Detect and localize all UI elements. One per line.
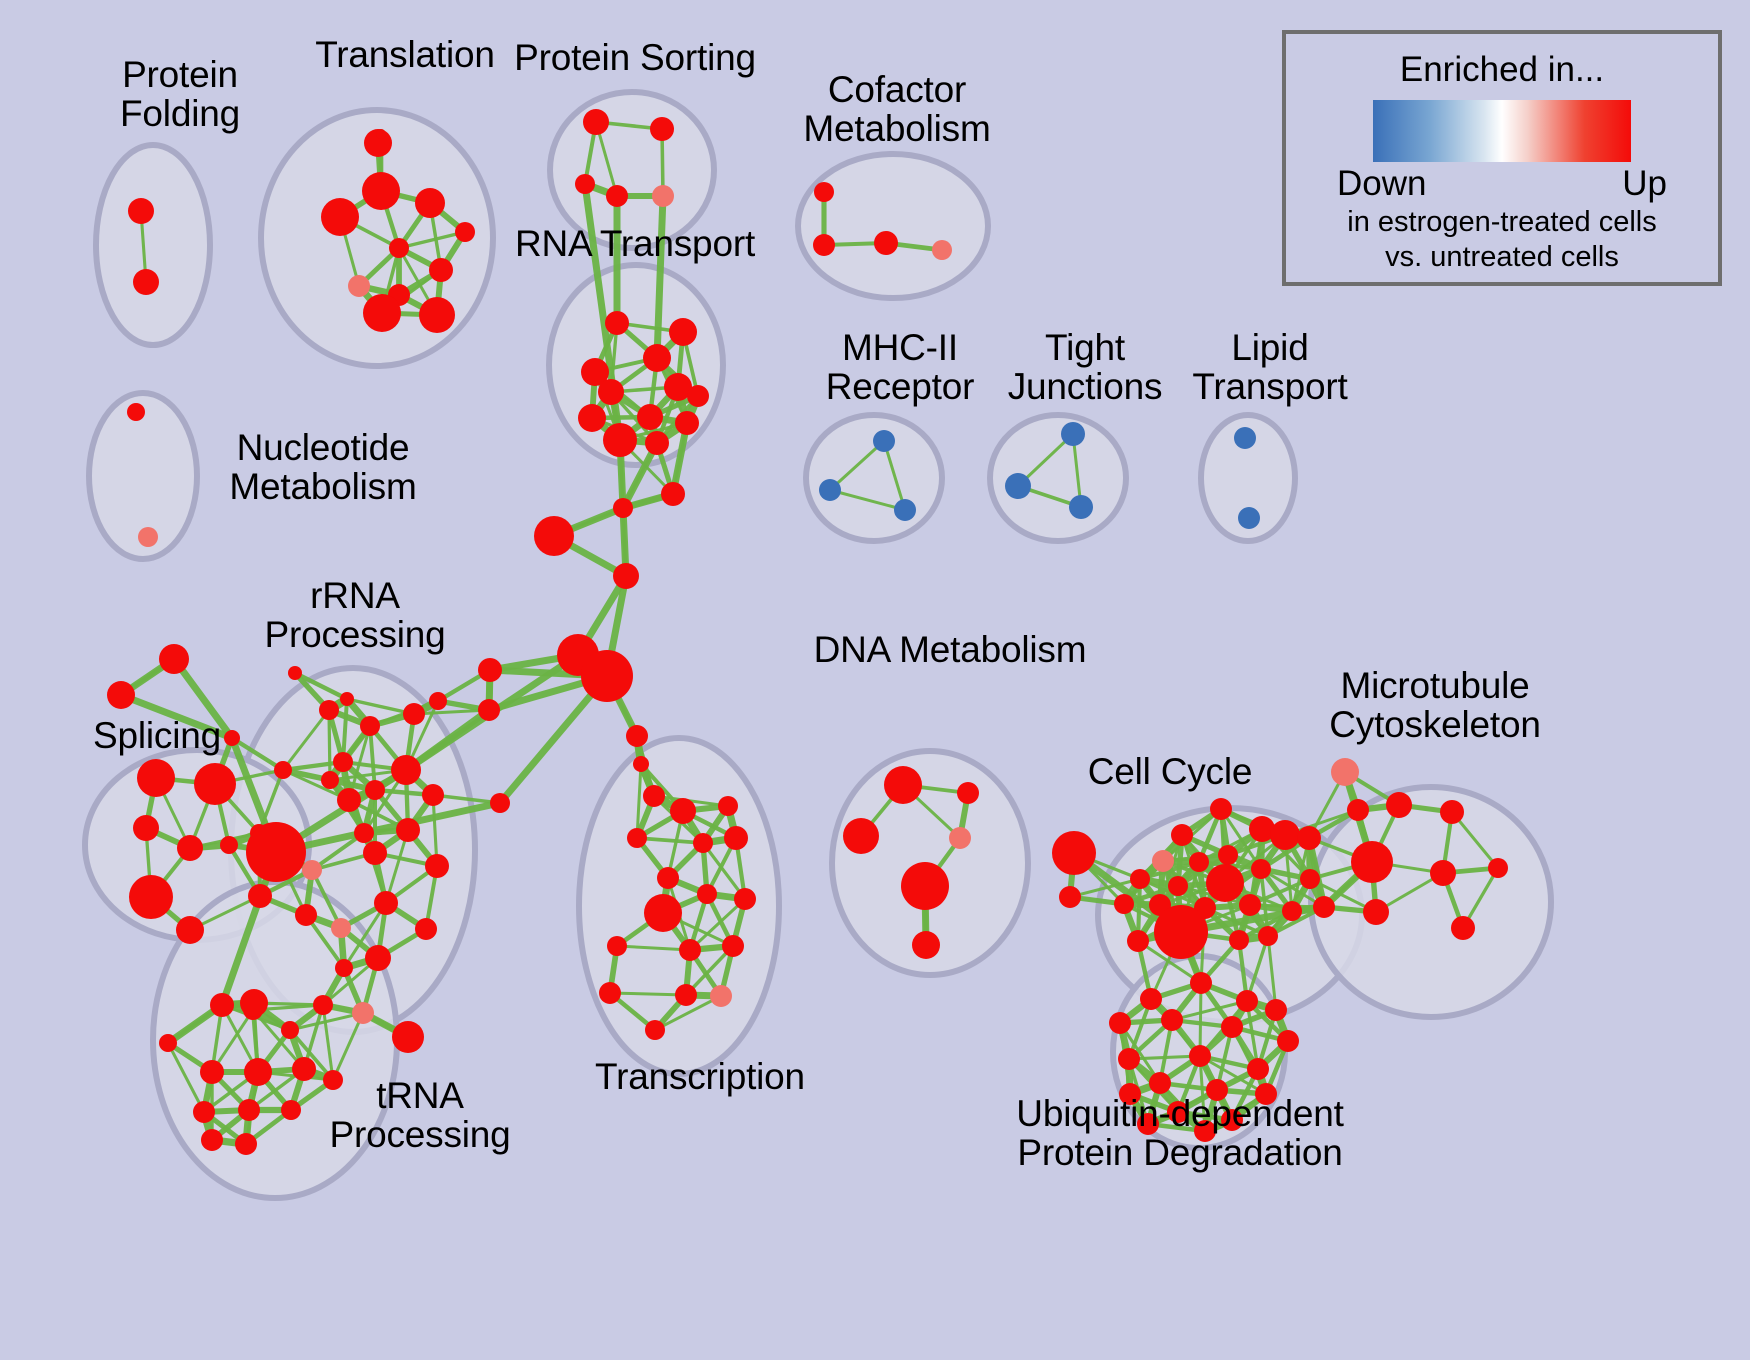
network-node[interactable] [578,404,606,432]
network-node[interactable] [1351,841,1393,883]
network-node[interactable] [627,828,647,848]
network-node[interactable] [912,931,940,959]
network-node[interactable] [374,891,398,915]
network-node[interactable] [295,904,317,926]
network-node[interactable] [606,185,628,207]
network-node[interactable] [288,666,302,680]
network-node[interactable] [194,763,236,805]
network-node[interactable] [1331,758,1359,786]
network-node[interactable] [1239,894,1261,916]
network-node[interactable] [583,109,609,135]
network-node[interactable] [478,658,502,682]
cluster-label-rrna-processing: rRNA Processing [245,576,465,654]
network-node[interactable] [661,482,685,506]
network-node[interactable] [1297,826,1321,850]
network-node[interactable] [884,766,922,804]
network-node[interactable] [302,860,322,880]
network-node[interactable] [687,385,709,407]
network-edge [610,993,686,995]
network-node[interactable] [1130,869,1150,889]
network-node[interactable] [1247,1058,1269,1080]
network-node[interactable] [335,959,353,977]
network-node[interactable] [210,993,234,1017]
network-node[interactable] [1277,1030,1299,1052]
network-node[interactable] [657,867,679,889]
network-node[interactable] [137,759,175,797]
network-node[interactable] [392,1021,424,1053]
network-node[interactable] [718,796,738,816]
network-node[interactable] [670,798,696,824]
network-node[interactable] [1052,831,1096,875]
network-node[interactable] [607,936,627,956]
network-node[interactable] [1190,972,1212,994]
network-node[interactable] [248,884,272,908]
network-node[interactable] [1114,894,1134,914]
network-node[interactable] [1171,824,1193,846]
network-node[interactable] [391,755,421,785]
network-node[interactable] [363,841,387,865]
network-node[interactable] [1059,886,1081,908]
network-node[interactable] [679,939,701,961]
cluster-label-microtubule-cytoskeleton: Microtubule Cytoskeleton [1290,666,1580,744]
network-node[interactable] [949,827,971,849]
cluster-label-dna-metabolism: DNA Metabolism [800,630,1100,669]
legend-title: Enriched in... [1286,50,1718,90]
cluster-label-protein-folding: Protein Folding [80,55,280,133]
network-node[interactable] [675,984,697,1006]
network-node[interactable] [722,935,744,957]
network-node[interactable] [376,129,386,139]
network-node[interactable] [1005,473,1031,499]
cluster-label-trna-processing: tRNA Processing [310,1076,530,1154]
network-node[interactable] [613,563,639,589]
network-node[interactable] [1069,495,1093,519]
network-figure: Protein FoldingTranslationProtein Sortin… [0,0,1750,1360]
network-node[interactable] [894,499,916,521]
network-node[interactable] [1218,845,1238,865]
network-node[interactable] [603,423,637,457]
network-node[interactable] [415,918,437,940]
network-node[interactable] [246,822,306,882]
cluster-hull-microtubule-cytoskeleton [1311,787,1551,1017]
network-node[interactable] [1440,800,1464,824]
network-node[interactable] [138,527,158,547]
network-node[interactable] [425,854,449,878]
network-node[interactable] [365,945,391,971]
network-node[interactable] [957,782,979,804]
network-node[interactable] [340,692,354,706]
network-node[interactable] [650,117,674,141]
network-node[interactable] [1189,1045,1211,1067]
network-node[interactable] [478,699,500,721]
network-node[interactable] [415,188,445,218]
network-node[interactable] [1168,876,1188,896]
network-node[interactable] [274,761,292,779]
network-node[interactable] [389,238,409,258]
legend-up-label: Up [1622,164,1667,204]
network-node[interactable] [581,650,633,702]
network-node[interactable] [177,835,203,861]
network-node[interactable] [1238,507,1260,529]
network-node[interactable] [1488,858,1508,878]
network-node[interactable] [422,784,444,806]
network-node[interactable] [1221,1016,1243,1038]
network-node[interactable] [128,198,154,224]
network-node[interactable] [633,756,649,772]
network-node[interactable] [645,1020,665,1040]
cluster-label-ubiquitin-protein-degradation: Ubiquitin-dependent Protein Degradation [990,1094,1370,1172]
network-node[interactable] [1258,926,1278,946]
network-node[interactable] [159,1034,177,1052]
network-node[interactable] [874,231,898,255]
network-node[interactable] [873,430,895,452]
cluster-label-nucleotide-metabolism: Nucleotide Metabolism [198,428,448,506]
network-node[interactable] [813,234,835,256]
network-node[interactable] [159,644,189,674]
network-node[interactable] [1140,988,1162,1010]
network-node[interactable] [575,174,595,194]
network-node[interactable] [693,833,713,853]
network-node[interactable] [697,884,717,904]
network-node[interactable] [1127,930,1149,952]
cluster-label-splicing: Splicing [62,716,252,755]
network-node[interactable] [220,836,238,854]
cluster-label-cell-cycle: Cell Cycle [1060,752,1280,791]
network-node[interactable] [1229,930,1249,950]
cluster-label-translation: Translation [280,35,530,74]
network-node[interactable] [605,311,629,335]
network-node[interactable] [319,700,339,720]
cluster-hull-mhc-ii-receptor [806,415,942,541]
network-node[interactable] [321,198,359,236]
network-node[interactable] [724,826,748,850]
network-node[interactable] [626,725,648,747]
network-node[interactable] [1152,850,1174,872]
network-node[interactable] [354,823,374,843]
network-node[interactable] [455,222,475,242]
network-node[interactable] [403,703,425,725]
network-node[interactable] [613,498,633,518]
network-node[interactable] [429,692,447,710]
network-node[interactable] [244,1058,272,1086]
network-node[interactable] [1363,899,1389,925]
network-node[interactable] [129,875,173,919]
network-node[interactable] [200,1060,224,1084]
network-edge [329,710,330,780]
network-node[interactable] [1061,422,1085,446]
network-node[interactable] [133,269,159,295]
cluster-label-transcription: Transcription [570,1057,830,1096]
network-node[interactable] [127,403,145,421]
network-node[interactable] [901,862,949,910]
network-node[interactable] [1189,852,1209,872]
network-node[interactable] [176,916,204,944]
network-node[interactable] [843,818,879,854]
network-node[interactable] [1313,896,1335,918]
network-node[interactable] [240,989,268,1017]
network-node[interactable] [1154,905,1208,959]
network-node[interactable] [133,815,159,841]
network-node[interactable] [675,411,699,435]
network-node[interactable] [352,1002,374,1024]
network-node[interactable] [819,479,841,501]
network-node[interactable] [107,681,135,709]
network-node[interactable] [598,379,624,405]
network-node[interactable] [1265,999,1287,1021]
legend-box: Enriched in... Down Up in estrogen-treat… [1282,30,1722,286]
cluster-label-lipid-transport: Lipid Transport [1160,328,1380,406]
cluster-hull-protein-folding [96,145,210,345]
network-node[interactable] [1282,901,1302,921]
network-node[interactable] [637,404,663,430]
network-node[interactable] [281,1100,301,1120]
network-node[interactable] [490,793,510,813]
cluster-label-protein-sorting: Protein Sorting [495,38,775,77]
network-node[interactable] [652,185,674,207]
network-node[interactable] [645,431,669,455]
network-node[interactable] [331,918,351,938]
network-node[interactable] [1270,820,1300,850]
network-node[interactable] [365,780,385,800]
network-node[interactable] [337,788,361,812]
network-node[interactable] [321,771,339,789]
network-node[interactable] [643,344,671,372]
network-node[interactable] [281,1021,299,1039]
legend-colorbar [1373,100,1631,162]
network-node[interactable] [238,1099,260,1121]
network-node[interactable] [201,1129,223,1151]
network-node[interactable] [932,240,952,260]
network-node[interactable] [360,716,380,736]
network-node[interactable] [534,516,574,556]
network-node[interactable] [710,985,732,1007]
network-node[interactable] [1251,859,1271,879]
network-node[interactable] [1210,798,1232,820]
network-node[interactable] [419,297,455,333]
network-node[interactable] [429,258,453,282]
cluster-label-rna-transport: RNA Transport [495,224,775,263]
network-node[interactable] [1161,1009,1183,1031]
network-node[interactable] [1347,799,1369,821]
network-node[interactable] [1118,1048,1140,1070]
network-node[interactable] [1430,860,1456,886]
legend-subtitle-line1: in estrogen-treated cells [1286,206,1718,239]
network-node[interactable] [348,275,370,297]
network-node[interactable] [363,294,401,332]
network-node[interactable] [1109,1012,1131,1034]
network-node[interactable] [1234,427,1256,449]
network-node[interactable] [644,894,682,932]
legend-down-label: Down [1337,164,1426,204]
network-node[interactable] [1206,864,1244,902]
network-node[interactable] [643,785,665,807]
network-node[interactable] [362,172,400,210]
legend-subtitle-line2: vs. untreated cells [1286,241,1718,274]
network-node[interactable] [1451,916,1475,940]
network-node[interactable] [1149,1072,1171,1094]
network-node[interactable] [313,995,333,1015]
network-node[interactable] [669,318,697,346]
network-node[interactable] [333,752,353,772]
network-node[interactable] [734,888,756,910]
network-node[interactable] [1386,792,1412,818]
network-node[interactable] [396,818,420,842]
network-node[interactable] [1236,990,1258,1012]
cluster-label-cofactor-metabolism: Cofactor Metabolism [772,70,1022,148]
network-node[interactable] [814,182,834,202]
network-node[interactable] [193,1101,215,1123]
network-node[interactable] [1300,869,1320,889]
network-node[interactable] [235,1133,257,1155]
network-node[interactable] [599,982,621,1004]
